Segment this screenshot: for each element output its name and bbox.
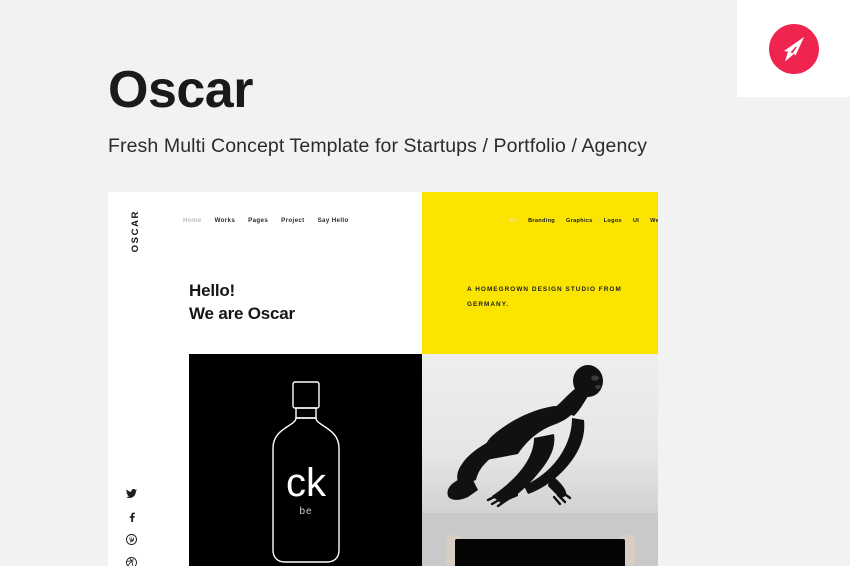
perfume-bottle-tile[interactable]: ck be bbox=[189, 354, 422, 566]
nav-item-say-hello[interactable]: Say Hello bbox=[318, 217, 349, 224]
mockup-studio-panel: All Branding Graphics Logos UI Web A HOM… bbox=[422, 192, 658, 354]
mockup-intro-panel: OSCAR Home Works Pages Project Say Hello… bbox=[108, 192, 422, 354]
page-title: Oscar bbox=[108, 64, 808, 116]
page-subtitle: Fresh Multi Concept Template for Startup… bbox=[108, 116, 808, 158]
bottle-brand-text: ck bbox=[286, 461, 327, 505]
tablet-device-screen bbox=[455, 539, 625, 566]
page-header: Oscar Fresh Multi Concept Template for S… bbox=[108, 64, 808, 158]
hero-heading: Hello! We are Oscar bbox=[189, 280, 295, 325]
filter-item-web[interactable]: Web bbox=[650, 218, 658, 224]
mockup-portfolio-grid: ck be bbox=[108, 354, 658, 566]
filter-item-branding[interactable]: Branding bbox=[528, 218, 555, 224]
filter-item-all[interactable]: All bbox=[509, 218, 517, 224]
filter-item-logos[interactable]: Logos bbox=[604, 218, 622, 224]
athlete-photo-tile[interactable] bbox=[422, 354, 658, 513]
site-logo-vertical[interactable]: OSCAR bbox=[130, 210, 141, 252]
mockup-top-band: OSCAR Home Works Pages Project Say Hello… bbox=[108, 192, 658, 354]
hero-heading-line-2: We are Oscar bbox=[189, 303, 295, 326]
athlete-figure bbox=[422, 354, 658, 513]
filter-item-ui[interactable]: UI bbox=[633, 218, 639, 224]
nav-item-project[interactable]: Project bbox=[281, 217, 304, 224]
tablet-in-hands-tile[interactable] bbox=[422, 513, 658, 566]
bottle-sub-text: be bbox=[299, 506, 312, 517]
site-main-nav: Home Works Pages Project Say Hello bbox=[183, 217, 349, 224]
template-preview-mockup: OSCAR Home Works Pages Project Say Hello… bbox=[108, 192, 658, 566]
nav-item-home[interactable]: Home bbox=[183, 217, 202, 224]
portfolio-filter-nav: All Branding Graphics Logos UI Web bbox=[509, 218, 658, 224]
perfume-bottle-illustration: ck be bbox=[263, 378, 349, 566]
studio-tagline: A HOMEGROWN DESIGN STUDIO FROM GERMANY. bbox=[467, 282, 657, 312]
nav-item-pages[interactable]: Pages bbox=[248, 217, 268, 224]
filter-item-graphics[interactable]: Graphics bbox=[566, 218, 593, 224]
hero-heading-line-1: Hello! bbox=[189, 280, 295, 303]
nav-item-works[interactable]: Works bbox=[215, 217, 236, 224]
